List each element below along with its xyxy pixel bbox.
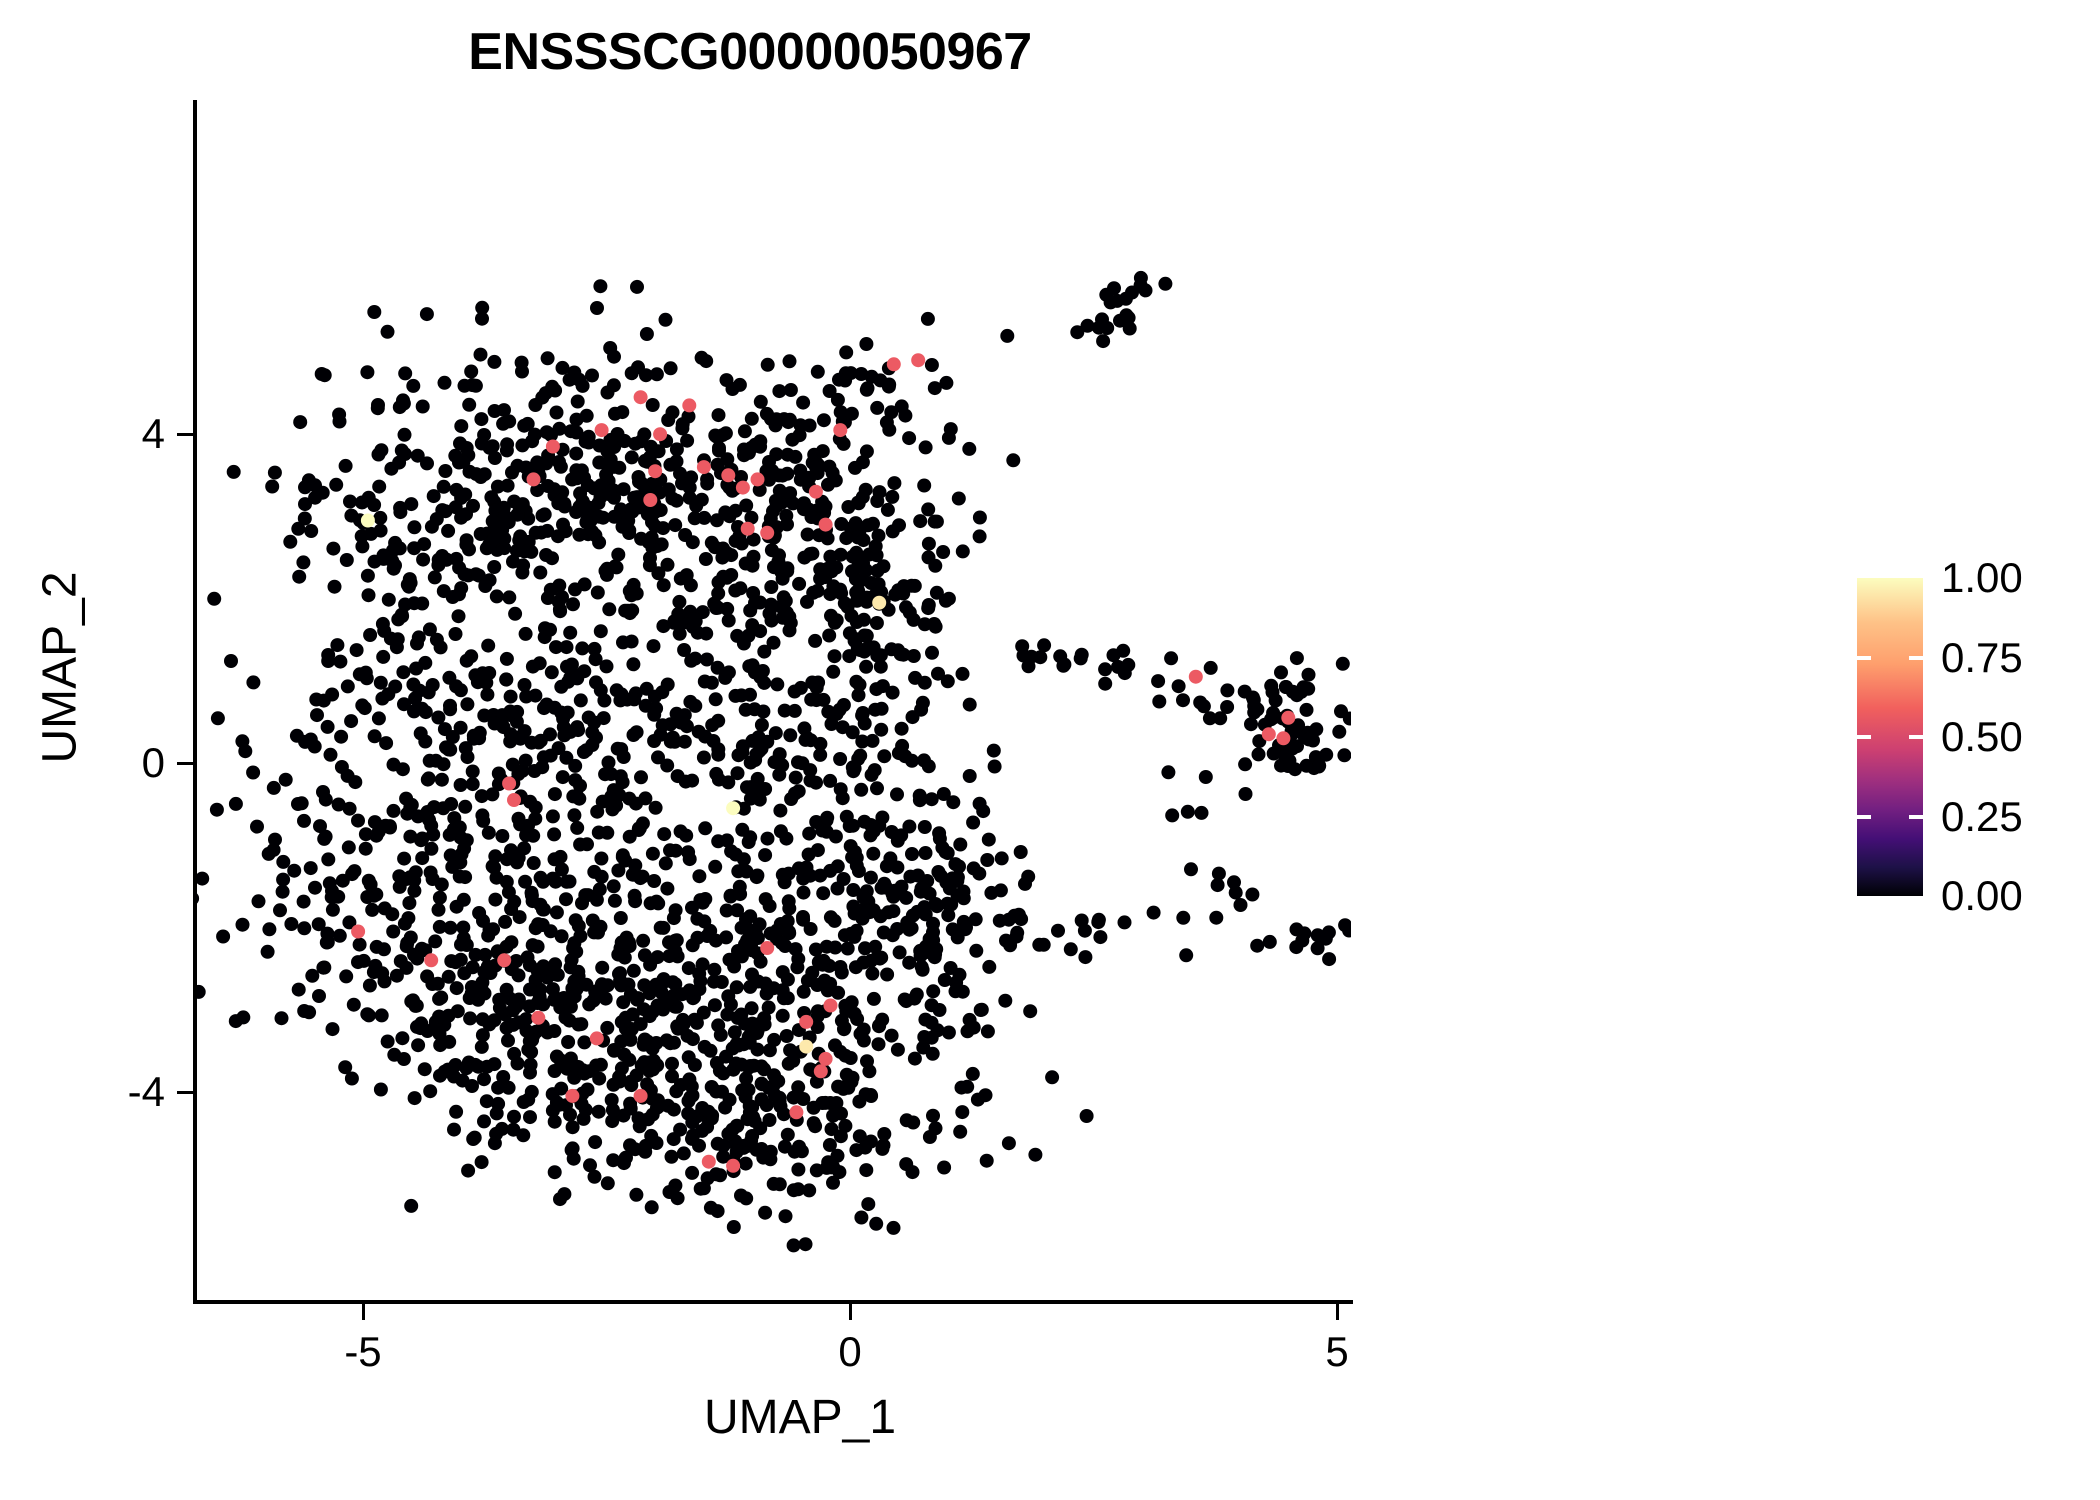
y-axis-title: UMAP_2 bbox=[33, 408, 88, 928]
colorbar-tick-mark bbox=[1857, 656, 1871, 660]
y-tick-mark bbox=[177, 1091, 193, 1094]
colorbar-tick-label: 0.00 bbox=[1941, 872, 2023, 920]
page-title: ENSSSCG00000050967 bbox=[0, 22, 1500, 82]
y-tick-mark bbox=[177, 433, 193, 436]
plot-panel bbox=[196, 100, 1351, 1302]
colorbar-tick-label: 0.50 bbox=[1941, 713, 2023, 761]
x-axis-title: UMAP_1 bbox=[450, 1390, 1150, 1445]
color-legend: 1.000.750.500.250.00 bbox=[1845, 560, 2075, 920]
x-tick-mark bbox=[362, 1304, 365, 1320]
y-tick-mark bbox=[177, 762, 193, 765]
x-tick-label: -5 bbox=[303, 1328, 423, 1376]
colorbar-tick-mark bbox=[1857, 815, 1871, 819]
colorbar-tick-label: 0.75 bbox=[1941, 634, 2023, 682]
x-tick-mark bbox=[1336, 1304, 1339, 1320]
colorbar-tick-mark bbox=[1909, 656, 1923, 660]
y-axis-line bbox=[193, 100, 197, 1304]
colorbar-tick-mark bbox=[1909, 815, 1923, 819]
x-tick-mark bbox=[849, 1304, 852, 1320]
colorbar-tick-mark bbox=[1857, 735, 1871, 739]
x-tick-label: 5 bbox=[1277, 1328, 1397, 1376]
colorbar-tick-mark bbox=[1909, 735, 1923, 739]
scatter-layer bbox=[196, 100, 1351, 1302]
colorbar-tick-label: 1.00 bbox=[1941, 554, 2023, 602]
y-tick-label: -4 bbox=[75, 1068, 165, 1116]
colorbar-tick-label: 0.25 bbox=[1941, 793, 2023, 841]
umap-feature-plot: ENSSSCG00000050967 -404 -505 UMAP_2 UMAP… bbox=[0, 0, 2100, 1500]
x-axis-line bbox=[193, 1300, 1353, 1304]
y-tick-label: 4 bbox=[75, 410, 165, 458]
y-tick-label: 0 bbox=[75, 739, 165, 787]
x-tick-label: 0 bbox=[790, 1328, 910, 1376]
